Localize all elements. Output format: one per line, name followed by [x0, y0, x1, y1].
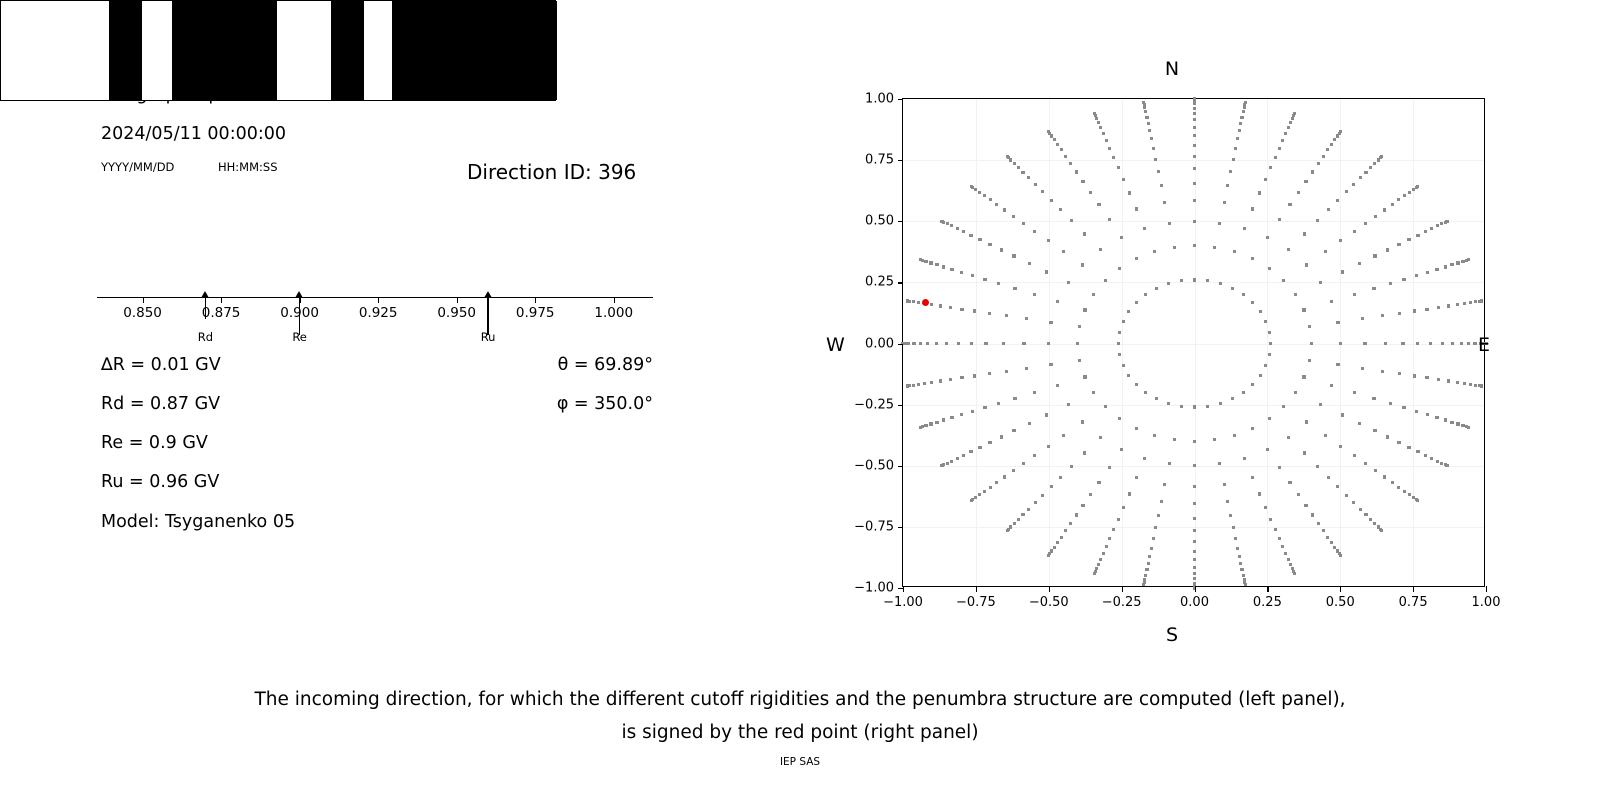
direction-dot [1193, 182, 1196, 185]
direction-dot [1251, 476, 1254, 479]
direction-dot [1383, 208, 1386, 211]
direction-dot [1064, 155, 1067, 158]
direction-dot [1049, 321, 1052, 324]
direction-dot [1045, 270, 1048, 273]
direction-dot [1128, 492, 1131, 495]
direction-dot [962, 454, 965, 457]
direction-dot [1268, 353, 1271, 356]
direction-dot [1193, 572, 1196, 575]
direction-dot [1311, 170, 1314, 173]
direction-dot [1266, 236, 1269, 239]
direction-dot [1330, 384, 1333, 387]
direction-dot [1060, 148, 1063, 151]
direction-dot [1017, 166, 1020, 169]
direction-dot [1447, 304, 1450, 307]
direction-dot [1450, 263, 1453, 266]
x-tick-label: 0.75 [1399, 595, 1428, 610]
direction-dot [1369, 166, 1372, 169]
direction-dot [1480, 299, 1483, 302]
direction-dot [1218, 222, 1221, 225]
direction-dot [939, 304, 942, 307]
direction-dot [1425, 308, 1428, 311]
direction-dot [1413, 309, 1416, 312]
direction-dot [1341, 270, 1344, 273]
direction-dot [1122, 506, 1125, 509]
caption-line-2: is signed by the red point (right panel) [0, 716, 1600, 749]
direction-dot [1017, 518, 1020, 521]
gridline-vertical [976, 99, 977, 586]
direction-dot [1135, 207, 1138, 210]
direction-dot [1358, 422, 1361, 425]
direction-dot [1232, 158, 1235, 161]
x-tick-label: −0.25 [1102, 595, 1142, 610]
direction-dot [1112, 528, 1115, 531]
y-tick-label: −1.00 [854, 581, 894, 596]
direction-dot [1193, 134, 1196, 137]
direction-dot [1239, 122, 1242, 125]
direction-dot [1236, 547, 1239, 550]
direction-dot [1092, 391, 1095, 394]
x-tick-label: −1.00 [883, 595, 923, 610]
direction-dot [1095, 117, 1098, 120]
gridline-horizontal [903, 527, 1484, 528]
direction-dot [1336, 363, 1339, 366]
direction-dot [1403, 194, 1406, 197]
direction-dot [1408, 191, 1411, 194]
direction-dot [1193, 517, 1196, 520]
direction-dot [1193, 167, 1196, 170]
direction-dot [919, 342, 922, 345]
direction-dot [1118, 267, 1121, 270]
penumbra-bar [0, 0, 556, 101]
direction-dot [1083, 232, 1086, 235]
direction-dot [1319, 403, 1322, 406]
direction-dot [950, 268, 953, 271]
direction-dot [1374, 215, 1377, 218]
direction-dot [1430, 457, 1433, 460]
direction-dot [995, 203, 998, 206]
arrow-stem [205, 297, 206, 319]
direction-dot [974, 496, 977, 499]
direction-dot [1236, 137, 1239, 140]
direction-dot [1437, 378, 1440, 381]
direction-dot [1474, 300, 1477, 303]
x-tick-label: 0.50 [1326, 595, 1355, 610]
direction-dot [940, 220, 943, 223]
direction-dot [1384, 342, 1387, 345]
direction-dot [1380, 529, 1383, 532]
direction-dot [1474, 384, 1477, 387]
direction-dot [1193, 540, 1196, 543]
direction-dot [1154, 158, 1157, 161]
direction-dot [1287, 558, 1290, 561]
direction-dot [1345, 190, 1348, 193]
x-tick [1122, 586, 1123, 592]
direction-dot [1075, 513, 1078, 516]
direction-dot [950, 224, 953, 227]
x-tick-label: 0.25 [1253, 595, 1282, 610]
direction-dot [942, 418, 945, 421]
direction-dot [1333, 138, 1336, 141]
direction-dot [1127, 374, 1130, 377]
direction-dot [1005, 314, 1008, 317]
direction-dot [1361, 367, 1364, 370]
direction-dot [1033, 391, 1036, 394]
direction-dot [1050, 134, 1053, 137]
param-theta: θ = 69.89° [558, 355, 653, 375]
direction-dot [1456, 381, 1459, 384]
direction-dot [1268, 417, 1271, 420]
penumbra-band-forbidden [331, 1, 364, 100]
direction-dot [1330, 541, 1333, 544]
direction-dot [1000, 435, 1003, 438]
direction-dot [1076, 342, 1079, 345]
direction-dot [1173, 438, 1176, 441]
direction-dot [1363, 342, 1366, 345]
direction-dot [1002, 342, 1005, 345]
direction-dot [1232, 526, 1235, 529]
direction-dot [912, 384, 915, 387]
compass-east-label: E [1478, 334, 1490, 356]
direction-dot [1268, 331, 1271, 334]
x-tick-label: −0.50 [1029, 595, 1069, 610]
direction-dot [1353, 391, 1356, 394]
param-rd: Rd = 0.87 GV [101, 394, 220, 414]
param-re: Re = 0.9 GV [101, 433, 208, 453]
direction-dot [1112, 156, 1115, 159]
direction-dot [1153, 434, 1156, 437]
direction-dot [1450, 421, 1453, 424]
caption-line-1: The incoming direction, for which the di… [0, 683, 1600, 716]
direction-dot [1352, 501, 1355, 504]
direction-dot [1045, 413, 1048, 416]
direction-dot [1408, 493, 1411, 496]
y-tick-label: 0.00 [865, 336, 894, 351]
direction-dot [1242, 391, 1245, 394]
direction-dot [1243, 227, 1246, 230]
direction-dot [960, 376, 963, 379]
y-tick [898, 221, 904, 222]
direction-dot [1033, 454, 1036, 457]
direction-dot [1193, 118, 1196, 121]
direction-dot [1278, 218, 1281, 221]
direction-dot [1426, 413, 1429, 416]
direction-dot [1397, 486, 1400, 489]
direction-dot [1436, 460, 1439, 463]
direction-dot [983, 278, 986, 281]
direction-dot [906, 384, 909, 387]
direction-dot [1305, 420, 1308, 423]
direction-dot [1398, 312, 1401, 315]
direction-dot [1163, 483, 1166, 486]
direction-dot [1000, 248, 1003, 251]
direction-dot [1135, 383, 1138, 386]
direction-dot [1416, 450, 1419, 453]
direction-dot [1062, 250, 1065, 253]
direction-dot [924, 424, 927, 427]
date-format-label: YYYY/MM/DD [101, 160, 174, 174]
direction-dot [1302, 375, 1305, 378]
direction-dot [1469, 383, 1472, 386]
left-panel: Geographic position: 49.1°S 155.9°E 2024… [0, 0, 760, 620]
direction-dot [1437, 306, 1440, 309]
direction-dot [1092, 293, 1095, 296]
arrow-label: Rd [198, 330, 213, 344]
arrow-head-icon [201, 291, 209, 298]
direction-dot [1451, 342, 1454, 345]
direction-dot [1108, 218, 1111, 221]
direction-dot [1413, 374, 1416, 377]
direction-dot [1067, 403, 1070, 406]
direction-dot [1193, 464, 1196, 467]
direction-dot [1049, 363, 1052, 366]
direction-dot [1317, 162, 1320, 165]
direction-dot [1064, 529, 1067, 532]
direction-dot [1324, 434, 1327, 437]
direction-dot [1311, 513, 1314, 516]
direction-dot [1391, 203, 1394, 206]
direction-dot [1021, 513, 1024, 516]
direction-dot [1294, 391, 1297, 394]
direction-dot [957, 342, 960, 345]
direction-dot [1093, 112, 1096, 115]
direction-dot [978, 493, 981, 496]
direction-dot [956, 227, 959, 230]
direction-dot [1358, 262, 1361, 265]
direction-dot [1324, 250, 1327, 253]
direction-dot [1233, 434, 1236, 437]
direction-dot [1053, 546, 1056, 549]
direction-dot [1193, 566, 1196, 569]
direction-dot [1364, 171, 1367, 174]
arrow-label: Re [292, 330, 307, 344]
direction-dot [1157, 170, 1160, 173]
param-phi: φ = 350.0° [557, 394, 653, 414]
direction-dot [1359, 176, 1362, 179]
direction-dot [1407, 446, 1410, 449]
direction-dot [1168, 462, 1171, 465]
direction-dot [1218, 462, 1221, 465]
y-tick-label: 0.50 [865, 214, 894, 229]
direction-dot [1163, 201, 1166, 204]
direction-dot [1242, 110, 1245, 113]
direction-dot [1381, 370, 1384, 373]
direction-dot [1353, 454, 1356, 457]
direction-dot [962, 230, 965, 233]
direction-dot [1240, 568, 1243, 571]
direction-dot [1142, 583, 1145, 586]
direction-dot [1117, 166, 1120, 169]
direction-dot [1264, 178, 1267, 181]
direction-dot [1193, 112, 1196, 115]
direction-dot [1143, 227, 1146, 230]
datetime-text: 2024/05/11 00:00:00 [101, 124, 286, 144]
direction-dot [1336, 134, 1339, 137]
direction-dot [1460, 342, 1463, 345]
direction-dot [1264, 364, 1267, 367]
arrow-label: Ru [481, 330, 496, 344]
direction-dot [1193, 440, 1196, 443]
direction-dot [1028, 422, 1031, 425]
direction-dot [1353, 293, 1356, 296]
direction-dot [1012, 469, 1015, 472]
direction-dot [1193, 102, 1196, 105]
param-model: Model: Tsyganenko 05 [101, 512, 295, 532]
direction-dot [1193, 126, 1196, 129]
direction-dot [945, 342, 948, 345]
direction-dot [1147, 122, 1150, 125]
direction-dot [1266, 448, 1269, 451]
direction-dot [1099, 558, 1102, 561]
direction-dot [912, 342, 915, 345]
direction-dot [1022, 222, 1025, 225]
direction-dot [1330, 143, 1333, 146]
direction-dot [1135, 301, 1138, 304]
direction-dot [1294, 293, 1297, 296]
direction-dot [1099, 248, 1102, 251]
direction-dot [1102, 132, 1105, 135]
direction-dot [1231, 397, 1234, 400]
direction-dot [1383, 475, 1386, 478]
direction-dot [1105, 139, 1108, 142]
direction-dot [1278, 466, 1281, 469]
y-tick-label: −0.25 [854, 397, 894, 412]
direction-dot [1168, 222, 1171, 225]
direction-dot [1152, 537, 1155, 540]
direction-dot [929, 422, 932, 425]
direction-dot [1160, 184, 1163, 187]
direction-dot [1053, 138, 1056, 141]
direction-dot [1034, 183, 1037, 186]
direction-dot [1104, 279, 1107, 282]
direction-dot [1297, 493, 1300, 496]
direction-dot [1083, 451, 1086, 454]
direction-dot [971, 274, 974, 277]
direction-dot [1143, 457, 1146, 460]
direction-dot [1293, 112, 1296, 115]
direction-dot [1429, 342, 1432, 345]
direction-dot [1006, 155, 1009, 158]
param-delta-r: ∆R = 0.01 GV [101, 355, 221, 375]
direction-dot [1287, 248, 1290, 251]
direction-dot [1012, 254, 1015, 257]
direction-dot [989, 198, 992, 201]
direction-dot [1251, 207, 1254, 210]
direction-dot [1282, 405, 1285, 408]
direction-dot [1089, 191, 1092, 194]
direction-dot [1108, 466, 1111, 469]
direction-dot [1173, 246, 1176, 249]
direction-dot [1456, 303, 1459, 306]
direction-dot [1336, 199, 1339, 202]
direction-dot [907, 342, 910, 345]
time-format-label: HH:MM:SS [218, 160, 278, 174]
direction-dot [1381, 314, 1384, 317]
direction-dot [1445, 464, 1448, 467]
direction-dot [1148, 555, 1151, 558]
selected-direction-point[interactable] [922, 299, 929, 306]
direction-dot [1167, 402, 1170, 405]
direction-dot [1118, 353, 1121, 356]
direction-dot [1269, 166, 1272, 169]
x-tick [1195, 586, 1196, 592]
direction-dot [1206, 279, 1209, 282]
direction-dot [1157, 514, 1160, 517]
direction-dot [1391, 481, 1394, 484]
direction-dot [1097, 121, 1100, 124]
y-tick [898, 344, 904, 345]
direction-dot [926, 342, 929, 345]
direction-dot [1369, 518, 1372, 521]
direction-dot [1144, 110, 1147, 113]
direction-dot [1069, 162, 1072, 165]
direction-dot [1441, 342, 1444, 345]
direction-dot [1467, 258, 1470, 261]
direction-dot [956, 457, 959, 460]
direction-dot [1304, 504, 1307, 507]
direction-dot [1288, 481, 1291, 484]
direction-dot [1278, 147, 1281, 150]
direction-dot [1251, 257, 1254, 260]
direction-dot [1145, 568, 1148, 571]
direction-dot [1067, 281, 1070, 284]
direction-dot [1193, 278, 1196, 281]
direction-dot [1223, 483, 1226, 486]
direction-dot [1213, 246, 1216, 249]
direction-dot [1373, 254, 1376, 257]
direction-dot [1339, 445, 1342, 448]
direction-dot [1093, 572, 1096, 575]
direction-dot [1322, 529, 1325, 532]
direction-dot [1336, 485, 1339, 488]
direction-dot [1373, 162, 1376, 165]
direction-dot [1193, 502, 1196, 505]
direction-dot [1229, 170, 1232, 173]
direction-dot [1083, 375, 1086, 378]
direction-dot [1305, 263, 1308, 266]
direction-dot [1345, 494, 1348, 497]
direction-dot [1293, 572, 1296, 575]
direction-dot [906, 299, 909, 302]
direction-dot [1047, 130, 1050, 133]
direction-dot [1244, 583, 1247, 586]
direction-dot [1193, 529, 1196, 532]
direction-dot [1281, 139, 1284, 142]
x-tick-label: −0.75 [956, 595, 996, 610]
direction-dot [1330, 300, 1333, 303]
direction-dot [1268, 267, 1271, 270]
compass-south-label: S [1166, 624, 1178, 646]
penumbra-band-forbidden [172, 1, 277, 100]
x-tick [1049, 586, 1050, 592]
direction-dot [1027, 176, 1030, 179]
direction-dot [1258, 492, 1261, 495]
direction-dot [1364, 222, 1367, 225]
direction-dot [1056, 300, 1059, 303]
direction-dot [1193, 244, 1196, 247]
direction-dot [1231, 287, 1234, 290]
direction-dot [960, 413, 963, 416]
direction-dot [1326, 536, 1329, 539]
direction-dot [983, 490, 986, 493]
direction-dot [1062, 434, 1065, 437]
direction-dot [1135, 476, 1138, 479]
direction-dot [1274, 156, 1277, 159]
direction-dot [1436, 224, 1439, 227]
arrow-head-icon [295, 291, 303, 298]
y-tick [898, 160, 904, 161]
direction-grid-plot: −1.00−0.75−0.50−0.250.000.250.500.751.00… [902, 98, 1485, 587]
